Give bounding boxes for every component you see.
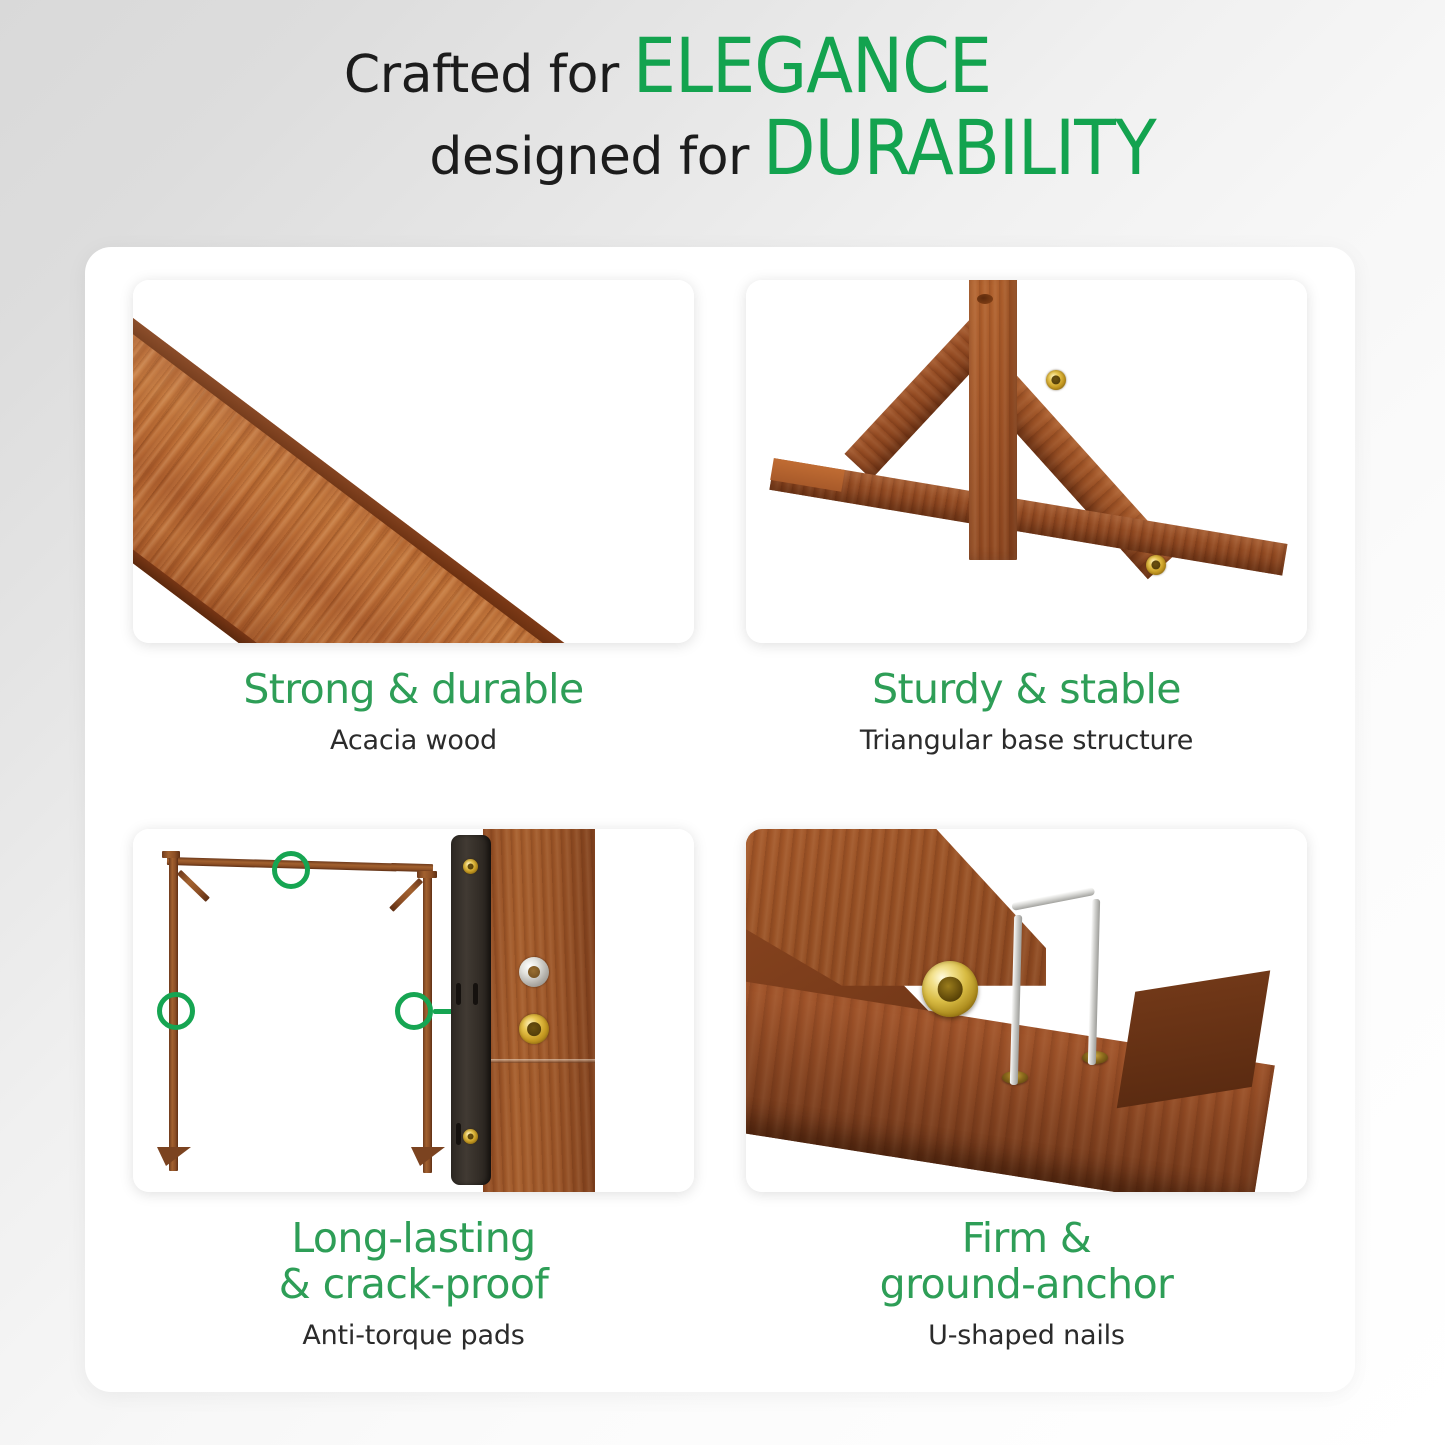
feature-subtitle: Anti-torque pads bbox=[279, 1321, 548, 1351]
feature-image-acacia-plank bbox=[133, 280, 694, 643]
feature-grid: Strong & durable Acacia wood bbox=[85, 247, 1355, 1392]
wood-knot bbox=[977, 294, 993, 304]
left-foot bbox=[157, 1147, 191, 1166]
swing-frame-illustration bbox=[133, 829, 694, 1192]
bracket-slot-left bbox=[456, 983, 461, 1005]
detail-wooden-post bbox=[483, 829, 595, 1192]
brass-screw-lower bbox=[1146, 555, 1166, 575]
feature-subtitle: Triangular base structure bbox=[860, 726, 1193, 756]
headline-line-1-prefix: Crafted for bbox=[344, 45, 619, 105]
right-foot bbox=[411, 1147, 445, 1166]
feature-caption-long-lasting: Long-lasting & crack-proof Anti-torque p… bbox=[279, 1216, 548, 1351]
acacia-plank-illustration bbox=[133, 280, 694, 643]
detail-post-seam bbox=[483, 1059, 595, 1063]
triangular-base-illustration bbox=[746, 280, 1307, 643]
wood-plank-shape bbox=[133, 280, 642, 643]
headline-line-2-prefix: designed for bbox=[429, 127, 749, 187]
base-plank-end-face bbox=[1117, 970, 1270, 1108]
right-post-cap bbox=[417, 871, 437, 878]
headline-line-2-emphasis: DURABILITY bbox=[763, 103, 1156, 192]
brass-screw-head bbox=[922, 961, 978, 1017]
u-nail-crown bbox=[1011, 887, 1095, 911]
post-screw-silver bbox=[519, 957, 549, 987]
bracket-slot-lower bbox=[456, 1123, 461, 1145]
feature-image-frame-diagram bbox=[133, 829, 694, 1192]
bracket-screw-bottom bbox=[463, 1129, 478, 1144]
u-shaped-nail-illustration bbox=[746, 829, 1307, 1192]
feature-cell-firm-anchor: Firm & ground-anchor U-shaped nails bbox=[746, 829, 1307, 1366]
plank-sheen-overlay bbox=[133, 280, 642, 643]
feature-image-u-nail bbox=[746, 829, 1307, 1192]
feature-image-triangular-base bbox=[746, 280, 1307, 643]
left-corner-gusset bbox=[177, 870, 210, 902]
page-headline: Crafted forELEGANCE designed forDURABILI… bbox=[0, 28, 1445, 186]
annotation-circle-left-post bbox=[157, 992, 195, 1030]
feature-title: Sturdy & stable bbox=[860, 667, 1193, 713]
feature-caption-firm-anchor: Firm & ground-anchor U-shaped nails bbox=[880, 1216, 1174, 1351]
feature-title: Firm & ground-anchor bbox=[880, 1216, 1174, 1308]
feature-caption-sturdy-stable: Sturdy & stable Triangular base structur… bbox=[860, 667, 1193, 756]
feature-title: Strong & durable bbox=[243, 667, 583, 713]
bracket-slot-right bbox=[473, 983, 478, 1005]
feature-title: Long-lasting & crack-proof bbox=[279, 1216, 548, 1308]
left-post-cap bbox=[162, 851, 180, 858]
bracket-screw-top bbox=[463, 859, 478, 874]
annotation-circle-top-rail bbox=[272, 851, 310, 889]
annotation-circle-right-post bbox=[395, 992, 433, 1030]
right-corner-gusset bbox=[389, 878, 423, 912]
headline-line-1: Crafted forELEGANCE bbox=[0, 28, 1445, 104]
feature-cell-sturdy-stable: Sturdy & stable Triangular base structur… bbox=[746, 280, 1307, 817]
feature-subtitle: U-shaped nails bbox=[880, 1321, 1174, 1351]
feature-subtitle: Acacia wood bbox=[243, 726, 583, 756]
post-screw-brass bbox=[519, 1014, 549, 1044]
feature-cell-strong-durable: Strong & durable Acacia wood bbox=[133, 280, 694, 817]
headline-line-2: designed forDURABILITY bbox=[0, 110, 1445, 186]
feature-caption-strong-durable: Strong & durable Acacia wood bbox=[243, 667, 583, 756]
vertical-post bbox=[969, 280, 1017, 560]
headline-line-1-emphasis: ELEGANCE bbox=[633, 21, 991, 110]
feature-cell-long-lasting: Long-lasting & crack-proof Anti-torque p… bbox=[133, 829, 694, 1366]
horizontal-base-plank bbox=[769, 458, 1287, 575]
feature-card: Strong & durable Acacia wood bbox=[85, 247, 1355, 1392]
brass-screw-upper bbox=[1046, 370, 1066, 390]
